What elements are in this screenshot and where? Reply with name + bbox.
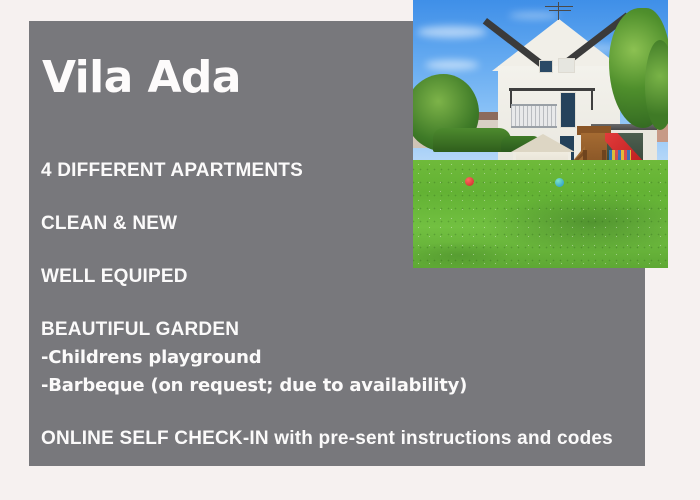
neighbour-house-left <box>413 128 443 148</box>
balcony-pergola <box>509 88 595 91</box>
villa-gable <box>492 19 626 71</box>
sky-region <box>413 0 668 166</box>
neighbour-house-right <box>631 118 668 142</box>
neighbour-house-mid <box>461 120 507 146</box>
terrace-awning <box>591 124 657 132</box>
villa-roof-left <box>483 18 551 72</box>
gazebo-canopy <box>513 152 571 176</box>
tree-right <box>609 8 668 128</box>
playground-stairs <box>559 146 585 178</box>
slide-canvas: Vila Ada 4 DIFFERENT APARTMENTSCLEAN & N… <box>0 0 700 500</box>
balcony-door <box>560 92 576 128</box>
playground-climbing-wall <box>609 150 631 176</box>
page-title: Vila Ada <box>42 56 241 100</box>
villa-facade <box>498 66 620 174</box>
lawn-texture <box>413 160 668 268</box>
gazebo-interior-shadow <box>517 166 567 176</box>
pergola-post-right <box>591 88 593 110</box>
tv-antenna-bar-1 <box>545 6 573 7</box>
cloud-streak-3 <box>509 12 559 19</box>
red-ball <box>465 177 474 186</box>
tv-antenna-bar-2 <box>549 10 571 11</box>
gazebo-roof <box>511 134 575 152</box>
feature-line: -Childrens playground <box>41 349 641 367</box>
blue-ball <box>555 178 564 187</box>
feature-line: BEAUTIFUL GARDEN <box>41 320 641 339</box>
playground-tower-roof <box>577 126 611 135</box>
playground-slide <box>605 133 653 177</box>
hedge-left <box>433 128 511 152</box>
lawn-region <box>413 160 668 268</box>
cloud-streak-2 <box>425 60 479 70</box>
feature-line: WELL EQUIPED <box>41 267 641 286</box>
balcony-railing <box>511 104 557 128</box>
tree-right-back <box>645 40 668 130</box>
hedge-mid <box>501 136 541 152</box>
villa-roof-right <box>562 12 630 66</box>
ground-floor-wall <box>591 130 657 164</box>
playground-post-left <box>583 150 587 178</box>
neighbour-roof-left <box>455 112 513 122</box>
tv-antenna <box>558 2 559 20</box>
cloud-streak-4 <box>573 44 619 53</box>
ground-floor-door <box>560 136 574 164</box>
cloud-streak-1 <box>417 26 487 38</box>
pergola-post-left <box>510 88 512 108</box>
gazebo-post-left <box>513 152 516 176</box>
feature-line: ONLINE SELF CHECK-IN with pre-sent instr… <box>41 429 641 448</box>
gazebo-post-right <box>568 152 571 176</box>
neighbour-roof-right <box>627 112 668 120</box>
tree-left <box>413 74 479 152</box>
attic-window-right <box>558 58 575 73</box>
garage-door <box>603 133 643 162</box>
property-photo <box>413 0 668 268</box>
playground-post-right <box>602 150 606 178</box>
playground-tower <box>581 133 607 177</box>
attic-window-left <box>539 60 553 73</box>
feature-line: -Barbeque (on request; due to availabili… <box>41 377 641 395</box>
